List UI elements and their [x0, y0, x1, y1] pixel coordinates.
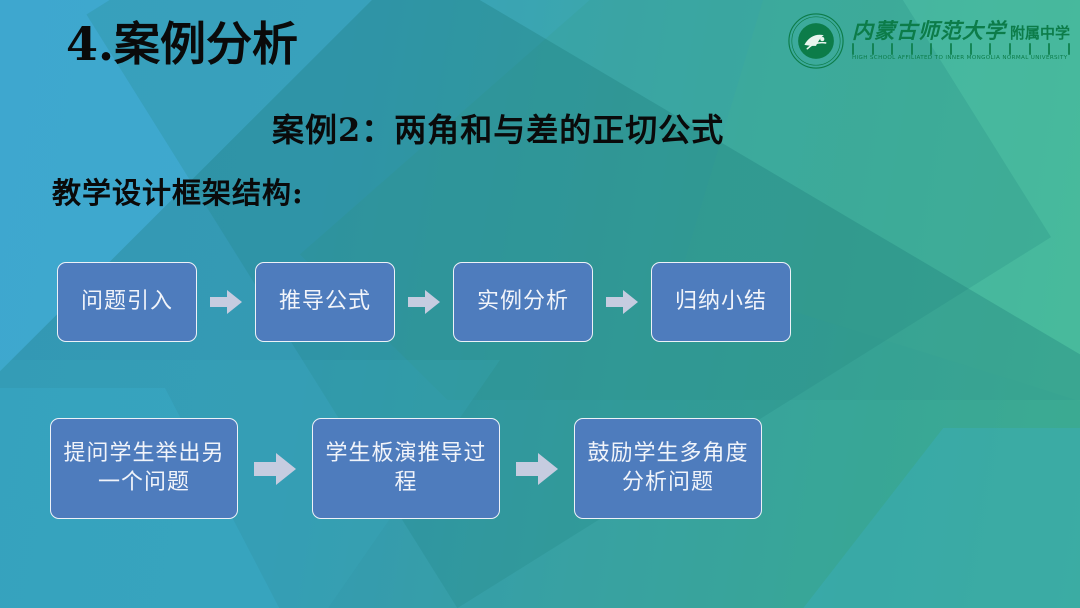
logo-university-name: 内蒙古师范大学 [852, 20, 1006, 41]
flow-box-multi-angle[interactable]: 鼓励学生多角度分析问题 [574, 418, 762, 519]
school-emblem-icon [787, 12, 845, 70]
arrow-right-icon [408, 289, 440, 315]
logo-mongolian-script [852, 43, 1070, 55]
arrow-right-icon [210, 289, 242, 315]
logo-english-name: HIGH SCHOOL AFFILIATED TO INNER MONGOLIA… [852, 56, 1070, 62]
bg-shape-bottom-right-cyan [780, 428, 1080, 608]
arrow-right-icon [516, 452, 558, 486]
arrow-right-icon [606, 289, 638, 315]
logo-text-block: 内蒙古师范大学 附属中学 HIGH SCHOOL AFFILIATED TO I… [852, 20, 1070, 62]
logo-school-name: 附属中学 [1010, 26, 1070, 41]
arrow-right-icon [254, 452, 296, 486]
school-logo: 内蒙古师范大学 附属中学 HIGH SCHOOL AFFILIATED TO I… [787, 10, 1070, 72]
flow-box-derive-formula[interactable]: 推导公式 [255, 262, 395, 342]
logo-chinese-row: 内蒙古师范大学 附属中学 [852, 20, 1070, 41]
slide-canvas: 4.案例分析 内蒙古师范大学 附属中学 HIGH SCHOOL AFFILIAT… [0, 0, 1080, 608]
flow-box-ask-students[interactable]: 提问学生举出另一个问题 [50, 418, 238, 519]
flow-box-summary[interactable]: 归纳小结 [651, 262, 791, 342]
case-subtitle: 案例2：两角和与差的正切公式 [272, 105, 724, 151]
framework-label: 教学设计框架结构: [52, 170, 304, 212]
flow-box-board-derivation[interactable]: 学生板演推导过程 [312, 418, 500, 519]
flow-row-secondary: 提问学生举出另一个问题 学生板演推导过程 鼓励学生多角度分析问题 [50, 418, 762, 519]
page-title: 4.案例分析 [66, 8, 298, 74]
flow-box-example-analysis[interactable]: 实例分析 [453, 262, 593, 342]
flow-row-primary: 问题引入 推导公式 实例分析 归纳小结 [57, 262, 791, 342]
flow-box-problem-intro[interactable]: 问题引入 [57, 262, 197, 342]
